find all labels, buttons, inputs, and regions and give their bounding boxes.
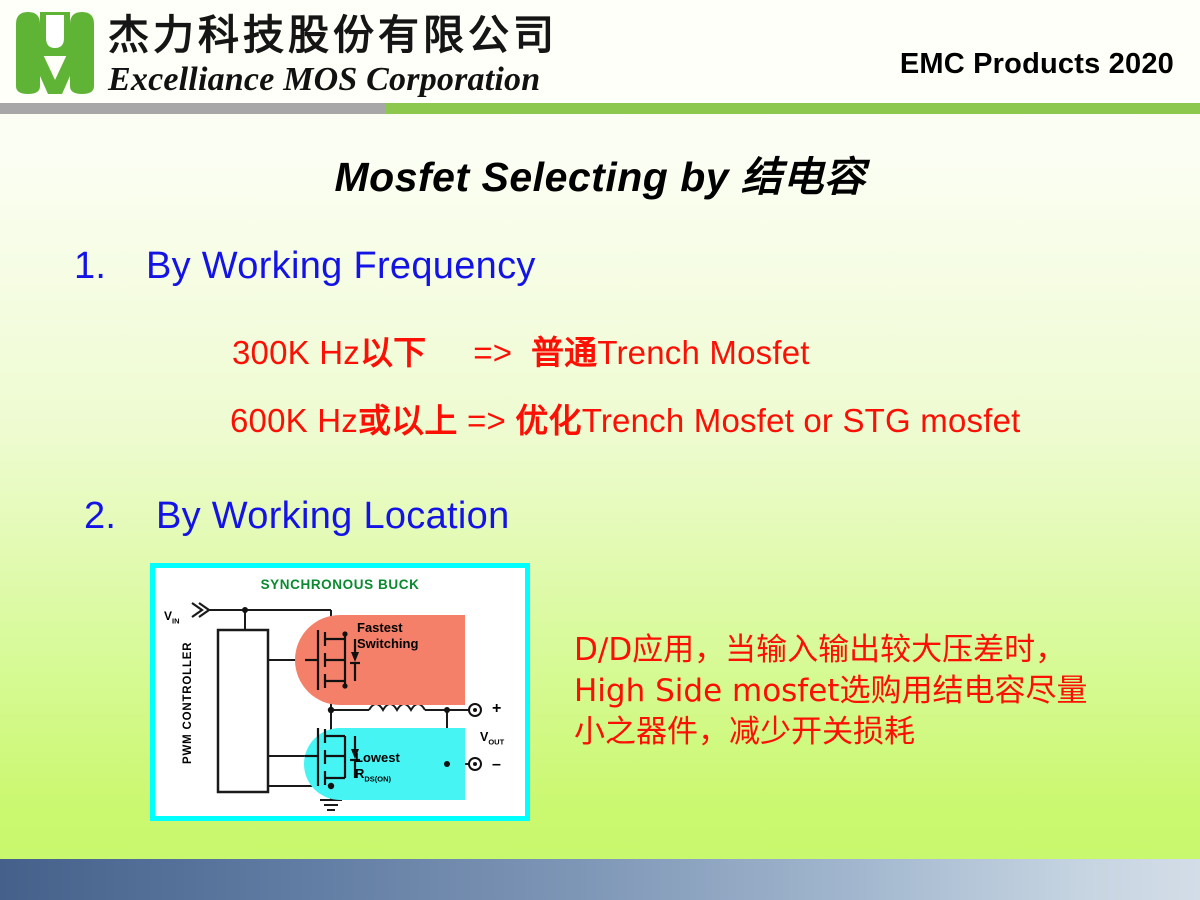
frequency-rule-1-value: 300K Hz: [232, 334, 360, 371]
vin-label: VIN: [164, 609, 180, 625]
page-title-english: Mosfet Selecting by: [335, 154, 741, 200]
frequency-rule-1-arrow: =>: [473, 334, 512, 371]
frequency-rule-2-value: 600K Hz: [230, 402, 358, 439]
frequency-rule-2-arrow: =>: [467, 402, 506, 439]
footer-bar: [0, 859, 1200, 900]
low-side-label: Lowest RDS(ON): [355, 750, 400, 788]
company-name-block: 杰力科技股份有限公司 Excelliance MOS Corporation: [108, 10, 558, 100]
application-note-line-1: D/D应用，当输入输出较大压差时，: [574, 630, 1114, 671]
output-terminal-negative: [469, 758, 481, 770]
polarity-negative-label: –: [492, 756, 501, 774]
frequency-rule-1-result-cn: 普通: [531, 333, 597, 372]
slide-canvas: 杰力科技股份有限公司 Excelliance MOS Corporation E…: [0, 0, 1200, 900]
bullet-1-label: By Working Frequency: [146, 245, 536, 287]
page-title: Mosfet Selecting by 结电容: [0, 143, 1200, 203]
synchronous-buck-diagram: SYNCHRONOUS BUCK: [150, 563, 530, 821]
frequency-rule-2: 600K Hz或以上 => 优化Trench Mosfet or STG mos…: [230, 394, 1021, 442]
frequency-rule-2-result-en: Trench Mosfet or STG mosfet: [582, 402, 1021, 439]
application-note: D/D应用，当输入输出较大压差时， High Side mosfet选购用结电容…: [574, 630, 1114, 753]
header-right-title: EMC Products 2020: [900, 48, 1174, 81]
circuit-schematic-graphic: [155, 568, 525, 816]
application-note-line-2: High Side mosfet选购用结电容尽量: [574, 671, 1114, 712]
bullet-item-1: 1.By Working Frequency: [74, 245, 536, 288]
slide-header: 杰力科技股份有限公司 Excelliance MOS Corporation E…: [0, 0, 1200, 103]
polarity-positive-label: +: [492, 700, 501, 718]
high-side-label: Fastest Switching: [357, 620, 418, 652]
vout-label: VOUT: [480, 730, 504, 747]
excelliance-mos-logo-icon: [12, 8, 98, 96]
header-divider: [0, 103, 1200, 114]
bullet-item-2: 2.By Working Location: [84, 495, 510, 538]
pwm-controller-label: PWM CONTROLLER: [182, 654, 194, 764]
divider-green-segment: [385, 103, 1200, 114]
company-name-english: Excelliance MOS Corporation: [108, 60, 558, 100]
page-title-chinese: 结电容: [741, 153, 866, 201]
bullet-2-label: By Working Location: [156, 495, 510, 537]
frequency-rule-1: 300K Hz以下 => 普通Trench Mosfet: [232, 326, 810, 374]
company-name-chinese: 杰力科技股份有限公司: [108, 10, 558, 60]
application-note-line-3: 小之器件，减少开关损耗: [574, 712, 1114, 753]
frequency-rule-1-result-en: Trench Mosfet: [597, 334, 809, 371]
output-terminal-positive: [469, 704, 481, 716]
frequency-rule-2-result-cn: 优化: [515, 401, 581, 440]
frequency-rule-2-condition-cn: 或以上: [358, 401, 458, 440]
bullet-1-number: 1.: [74, 245, 146, 288]
divider-gray-segment: [0, 103, 385, 114]
bullet-2-number: 2.: [84, 495, 156, 538]
frequency-rule-1-condition-cn: 以下: [360, 333, 426, 372]
